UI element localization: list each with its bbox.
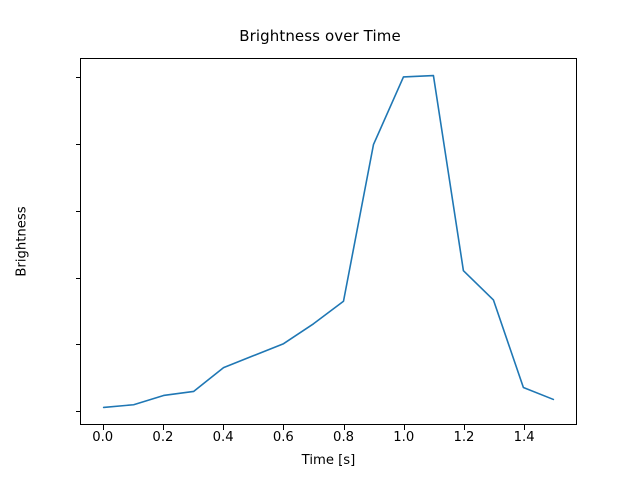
x-tick-label: 0.8: [333, 430, 354, 445]
y-axis-label-text: Brightness: [15, 206, 30, 276]
data-line-svg: [81, 59, 576, 424]
x-tick-mark: [103, 425, 104, 430]
x-tick-label: 0.6: [273, 430, 294, 445]
x-tick-label: 0.0: [92, 430, 113, 445]
x-tick-mark: [283, 425, 284, 430]
x-tick-mark: [524, 425, 525, 430]
x-tick-label: 0.2: [152, 430, 173, 445]
x-tick-mark: [344, 425, 345, 430]
x-tick-label: 1.2: [453, 430, 474, 445]
brightness-series-line: [104, 76, 554, 408]
y-axis-label: Brightness: [14, 58, 30, 425]
x-tick-label: 0.4: [213, 430, 234, 445]
x-axis-label: Time [s]: [80, 453, 577, 468]
chart-title: Brightness over Time: [0, 27, 640, 45]
x-tick-label: 1.4: [514, 430, 535, 445]
x-tick-label: 1.0: [393, 430, 414, 445]
x-tick-mark: [163, 425, 164, 430]
x-tick-mark: [223, 425, 224, 430]
x-tick-mark: [464, 425, 465, 430]
plot-area: [80, 58, 577, 425]
chart-figure: Brightness over Time Brightness 05010015…: [0, 0, 640, 480]
x-tick-mark: [404, 425, 405, 430]
